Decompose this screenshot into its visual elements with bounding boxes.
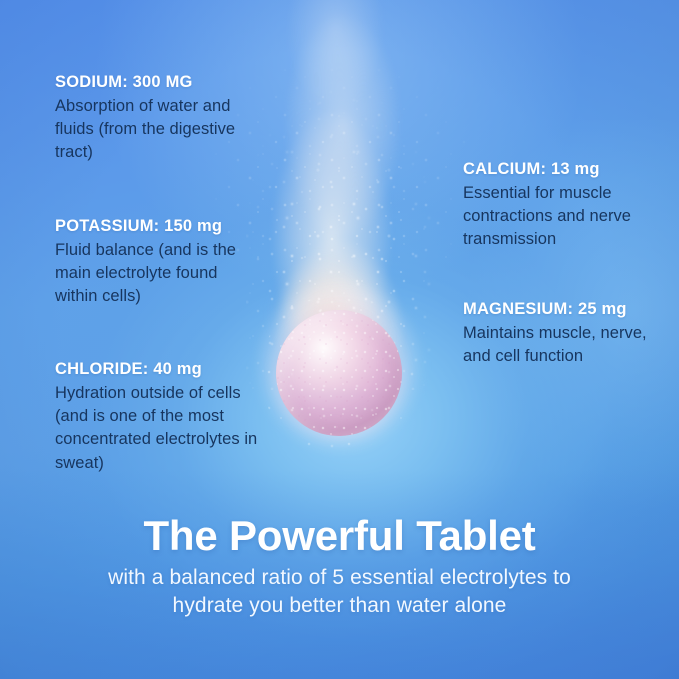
nutrient-description-sodium: Absorption of water and fluids (from the… xyxy=(55,95,260,165)
nutrient-description-calcium: Essential for muscle contractions and ne… xyxy=(463,182,668,252)
headline-subtitle-line-1: with a balanced ratio of 5 essential ele… xyxy=(0,564,679,592)
nutrient-label-calcium: CALCIUM: 13 mg xyxy=(463,159,668,180)
headline-title: The Powerful Tablet xyxy=(0,513,679,558)
headline-subtitle-line-2: hydrate you better than water alone xyxy=(0,592,679,620)
nutrient-description-chloride: Hydration outside of cells (and is one o… xyxy=(55,382,270,476)
nutrient-description-magnesium: Maintains muscle, nerve, and cell functi… xyxy=(463,322,668,369)
nutrient-block-magnesium: MAGNESIUM: 25 mg Maintains muscle, nerve… xyxy=(463,299,668,368)
nutrient-block-potassium: POTASSIUM: 150 mg Fluid balance (and is … xyxy=(55,216,260,309)
nutrient-description-potassium: Fluid balance (and is the main electroly… xyxy=(55,239,260,309)
nutrient-block-chloride: CHLORIDE: 40 mg Hydration outside of cel… xyxy=(55,359,270,475)
nutrient-label-magnesium: MAGNESIUM: 25 mg xyxy=(463,299,668,320)
nutrient-label-sodium: SODIUM: 300 MG xyxy=(55,72,260,93)
nutrient-label-potassium: POTASSIUM: 150 mg xyxy=(55,216,260,237)
infographic-page: SODIUM: 300 MG Absorption of water and f… xyxy=(0,0,679,679)
headline-group: The Powerful Tablet with a balanced rati… xyxy=(0,513,679,620)
nutrient-label-chloride: CHLORIDE: 40 mg xyxy=(55,359,270,380)
nutrient-block-calcium: CALCIUM: 13 mg Essential for muscle cont… xyxy=(463,159,668,252)
nutrient-block-sodium: SODIUM: 300 MG Absorption of water and f… xyxy=(55,72,260,165)
